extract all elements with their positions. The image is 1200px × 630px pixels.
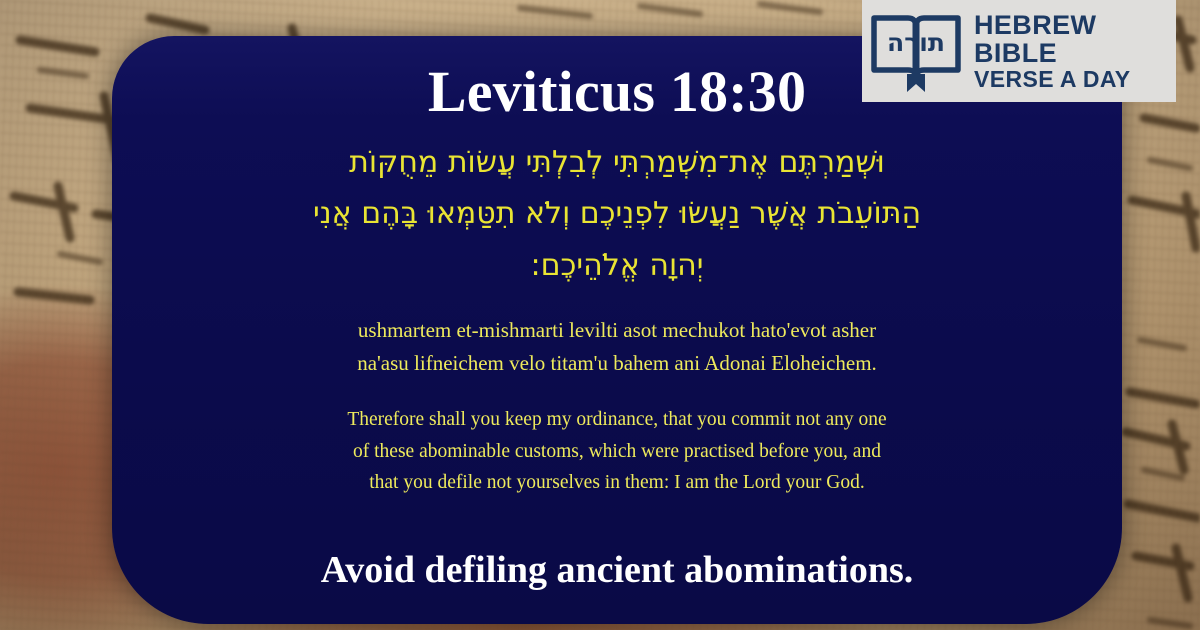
hebrew-verse-text: וּשְׁמַרְתֶּם אֶת־מִשְׁמַרְתִּי לְבִלְתִ… [237,137,997,292]
brand-logo: תורה HEBREW BIBLE VERSE A DAY [862,0,1176,102]
verse-graphic: Leviticus 18:30 וּשְׁמַרְתֶּם אֶת־מִשְׁמ… [0,0,1200,630]
brand-line-verse-a-day: VERSE A DAY [974,67,1131,92]
brand-line-hebrew: HEBREW [974,11,1131,39]
hebrew-line: יְהוָה אֱלֹהֵיכֶם: [237,240,997,292]
brand-line-bible: BIBLE [974,39,1131,67]
translation-line: of these abominable customs, which were … [217,436,1017,468]
transliteration-line: na'asu lifneichem velo titam'u bahem ani… [232,347,1002,380]
hebrew-line: הַתּוֹעֵבֹת אֲשֶׁר נַעֲשׂוּ לִפְנֵיכֶם ו… [237,188,997,240]
english-translation-text: Therefore shall you keep my ordinance, t… [217,404,1017,499]
translation-line: Therefore shall you keep my ordinance, t… [217,404,1017,436]
hebrew-line: וּשְׁמַרְתֶּם אֶת־מִשְׁמַרְתִּי לְבִלְתִ… [237,137,997,189]
verse-card: Leviticus 18:30 וּשְׁמַרְתֶּם אֶת־מִשְׁמ… [112,36,1122,624]
verse-summary-caption: Avoid defiling ancient abominations. [112,550,1122,592]
transliteration-text: ushmartem et-mishmarti levilti asot mech… [232,314,1002,380]
brand-wordmark: HEBREW BIBLE VERSE A DAY [974,11,1131,92]
open-book-icon: תורה [868,8,964,94]
transliteration-line: ushmartem et-mishmarti levilti asot mech… [232,314,1002,347]
torah-word: תורה [887,28,945,57]
translation-line: that you defile not yourselves in them: … [217,467,1017,499]
